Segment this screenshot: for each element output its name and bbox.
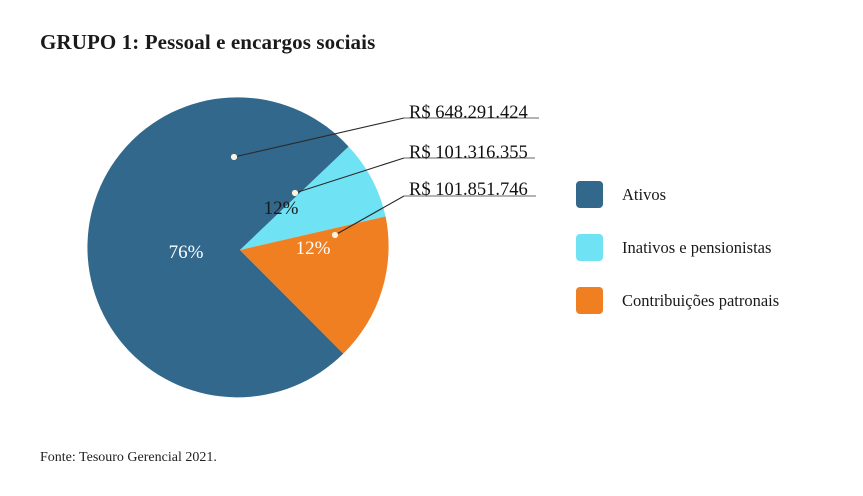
callout-value-inativos-e-pensionistas: R$ 101.316.355 <box>409 143 528 164</box>
legend-label-contribuicoes-patronais: Contribuições patronais <box>622 291 779 311</box>
legend-item-contribuicoes-patronais[interactable]: Contribuições patronais <box>576 284 846 317</box>
legend-swatch-icon-inativos-e-pensionistas <box>576 234 603 261</box>
pie-chart-area: 76% 12% 12% R$ 648.291.424 R$ 101.316.35… <box>0 0 560 430</box>
pie-chart-svg: 76% 12% 12% <box>0 0 560 430</box>
leader-dot-inativos-e-pensionistas <box>292 190 298 196</box>
slice-percent-inativos-e-pensionistas: 12% <box>264 198 299 219</box>
legend-item-inativos-e-pensionistas[interactable]: Inativos e pensionistas <box>576 231 846 264</box>
legend: Ativos Inativos e pensionistas Contribui… <box>576 178 846 337</box>
slice-percent-ativos: 76% <box>169 242 204 263</box>
legend-label-inativos-e-pensionistas: Inativos e pensionistas <box>622 238 771 258</box>
leader-dot-contribuicoes-patronais <box>332 232 338 238</box>
legend-label-ativos: Ativos <box>622 185 666 205</box>
legend-swatch-icon-ativos <box>576 181 603 208</box>
callout-value-ativos: R$ 648.291.424 <box>409 103 528 124</box>
slice-percent-contribuicoes-patronais: 12% <box>296 238 331 259</box>
legend-swatch-icon-contribuicoes-patronais <box>576 287 603 314</box>
leader-dot-ativos <box>231 154 237 160</box>
callout-value-contribuicoes-patronais: R$ 101.851.746 <box>409 180 528 201</box>
chart-page: GRUPO 1: Pessoal e encargos sociais 76% <box>0 0 863 496</box>
legend-item-ativos[interactable]: Ativos <box>576 178 846 211</box>
source-note: Fonte: Tesouro Gerencial 2021. <box>40 450 217 466</box>
